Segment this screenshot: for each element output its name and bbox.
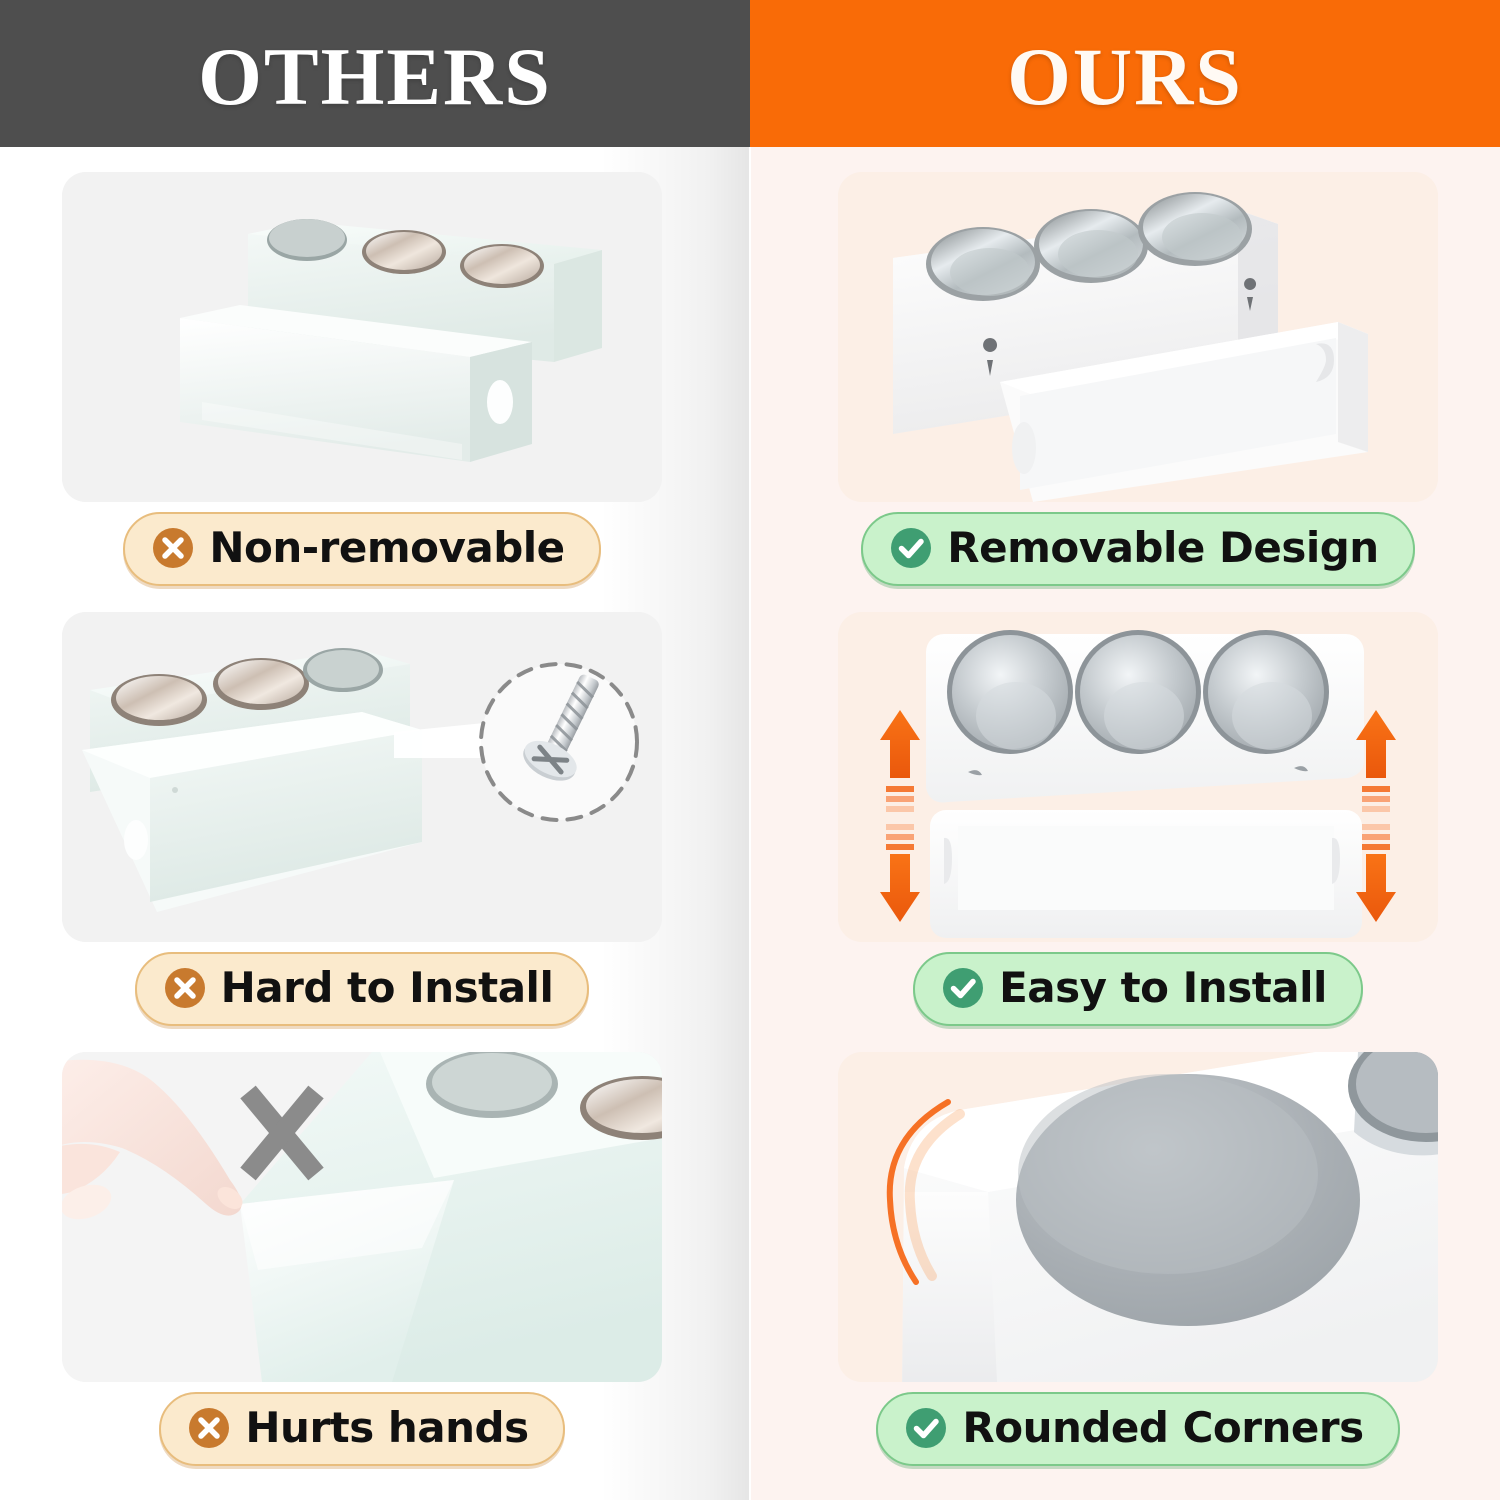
badge-row-non-removable: Non-removable: [62, 512, 662, 586]
badge-label: Hard to Install: [221, 966, 554, 1010]
badge-label: Rounded Corners: [962, 1406, 1363, 1450]
others-header: OTHERS: [0, 0, 750, 147]
badge-easy-to-install: Easy to Install: [913, 952, 1363, 1026]
rounded-corner-closeup-photo: [838, 1052, 1438, 1382]
ours-header-title: OURS: [1007, 36, 1243, 118]
circle-x-icon: [187, 1406, 231, 1450]
circle-x-icon: [163, 966, 207, 1010]
badge-rounded-corners: Rounded Corners: [876, 1392, 1399, 1466]
circle-check-icon: [904, 1406, 948, 1450]
badge-row-hurts-hands: Hurts hands: [62, 1392, 662, 1466]
utensil-holder-screw-callout-photo: [62, 612, 662, 942]
badge-row-removable-design: Removable Design: [838, 512, 1438, 586]
utensil-holder-fixed-tray-photo: [62, 172, 662, 502]
badge-label: Easy to Install: [999, 966, 1327, 1010]
badge-label: Removable Design: [947, 526, 1378, 570]
circle-x-icon: [151, 526, 195, 570]
ours-header: OURS: [750, 0, 1500, 147]
badge-removable-design: Removable Design: [861, 512, 1414, 586]
badge-label: Non-removable: [209, 526, 564, 570]
comparison-infographic: OTHERS OURS: [0, 0, 1500, 1500]
badge-hurts-hands: Hurts hands: [159, 1392, 564, 1466]
badge-label: Hurts hands: [245, 1406, 528, 1450]
utensil-holder-detached-tray-photo: [838, 172, 1438, 502]
others-header-title: OTHERS: [198, 36, 552, 118]
sharp-corner-finger-photo: [62, 1052, 662, 1382]
column-divider: [749, 147, 751, 1500]
badge-row-hard-to-install: Hard to Install: [62, 952, 662, 1026]
utensil-holder-slide-arrows-photo: [838, 612, 1438, 942]
badge-row-easy-to-install: Easy to Install: [838, 952, 1438, 1026]
badge-non-removable: Non-removable: [123, 512, 600, 586]
circle-check-icon: [941, 966, 985, 1010]
badge-hard-to-install: Hard to Install: [135, 952, 590, 1026]
badge-row-rounded-corners: Rounded Corners: [838, 1392, 1438, 1466]
circle-check-icon: [889, 526, 933, 570]
